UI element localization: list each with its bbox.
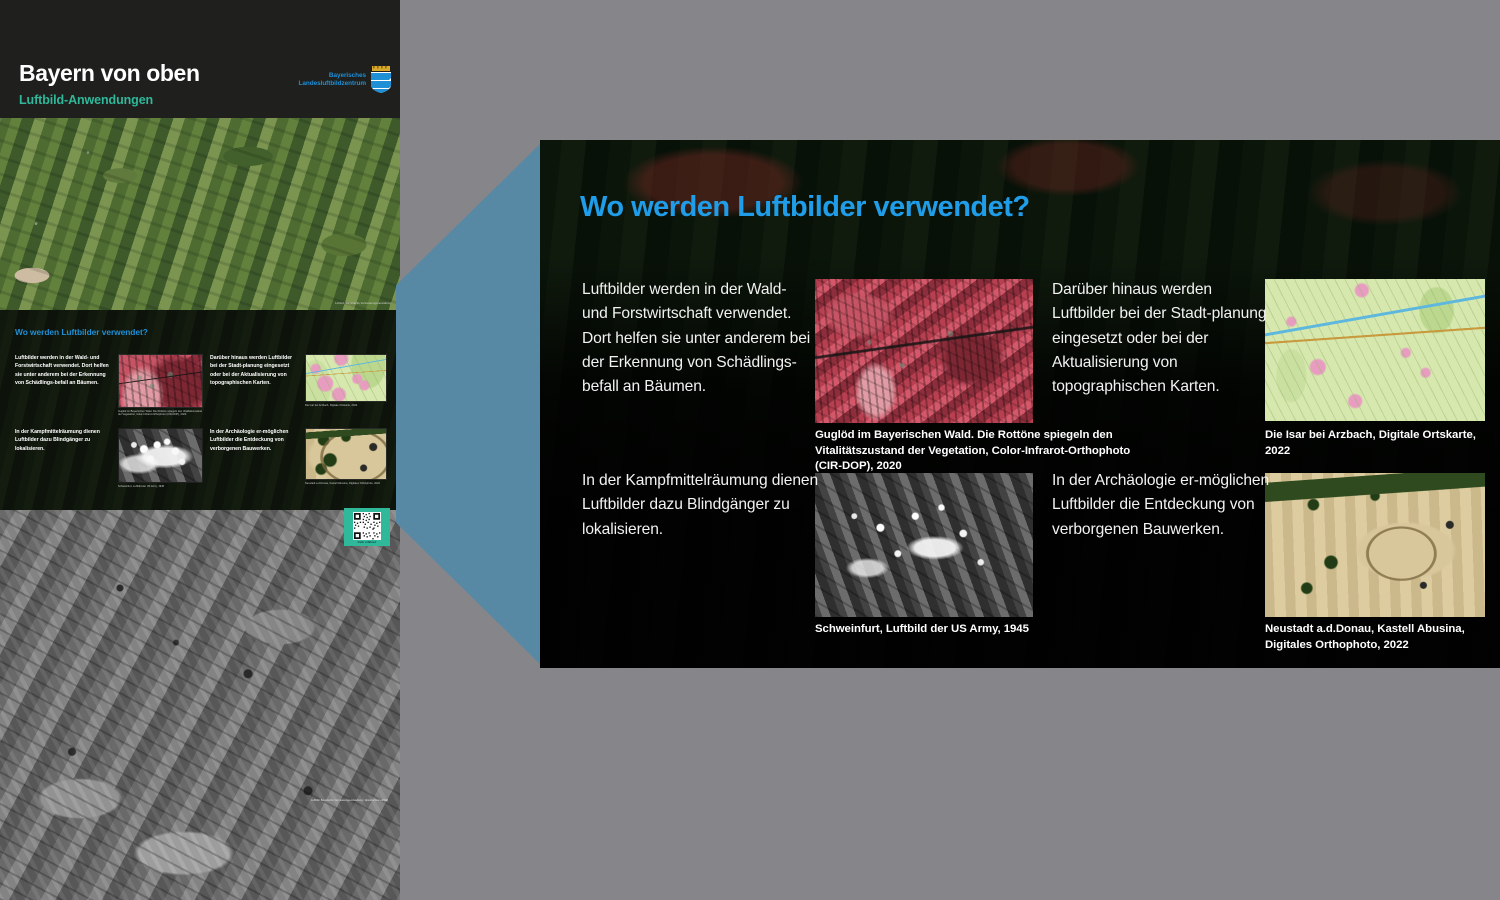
poster-quadrant-urban-media: Die Isar bei Arzbach, Digitale Ortskarte… — [305, 354, 387, 407]
qr-code-icon — [353, 512, 381, 540]
poster-top-aerial-photo: Luftbild: Bayerische Vermessungsverwaltu… — [0, 118, 400, 310]
poster-quadrant-caption: Neustadt a.d.Donau, Kastell Abusina, Dig… — [305, 482, 387, 485]
detail-panel: Wo werden Luftbilder verwendet? Luftbild… — [540, 140, 1500, 668]
screenshot-stage: Bayern von oben Luftbild-Anwendungen Bay… — [0, 0, 1500, 900]
poster-quadrant-text: In der Kampfmittelräumung dienen Luftbil… — [15, 428, 110, 453]
poster-top-photo-credit: Luftbild: Bayerische Vermessungsverwaltu… — [335, 302, 391, 305]
panel-caption-archaeology: Neustadt a.d.Donau, Kastell Abusina, Dig… — [1265, 622, 1497, 653]
poster-quadrant-urban: Darüber hinaus werden Luftbilder bei der… — [210, 354, 300, 388]
poster-quadrant-forestry: Luftbilder werden in der Wald- und Forst… — [15, 354, 110, 388]
cir-infrared-forest-photo — [815, 279, 1033, 423]
logo-line-2: Landesluftbildzentrum — [299, 80, 366, 88]
poster-subtitle: Luftbild-Anwendungen — [19, 93, 153, 107]
poster-quadrant-ordnance-media: Schweinfurt, Luftbild der US Army, 1945 — [118, 428, 203, 488]
poster-content-band: Wo werden Luftbilder verwendet? Luftbild… — [0, 310, 400, 510]
poster-quadrant-caption: Die Isar bei Arzbach, Digitale Ortskarte… — [305, 404, 387, 407]
panel-text-archaeology: In der Archäologie er-möglichen Luftbild… — [1052, 469, 1274, 542]
poster-quadrant-archaeology-media: Neustadt a.d.Donau, Kastell Abusina, Dig… — [305, 428, 387, 485]
panel-caption-urban: Die Isar bei Arzbach, Digitale Ortskarte… — [1265, 428, 1495, 459]
poster-title: Bayern von oben — [19, 60, 200, 87]
poster-quadrant-text: Darüber hinaus werden Luftbilder bei der… — [210, 354, 300, 388]
poster-image-historic-bw — [118, 428, 203, 483]
poster-image-topographic-map — [305, 354, 387, 402]
poster-image-archaeology — [305, 428, 387, 480]
qr-code-block[interactable]: mehr erfahren — [344, 508, 390, 546]
zoom-connector-wedge — [396, 140, 544, 668]
poster-quadrant-caption: Schweinfurt, Luftbild der US Army, 1945 — [118, 485, 203, 488]
poster-bottom-photo-credit: Luftbild: Bayerische Vermessungsverwaltu… — [311, 799, 388, 802]
poster-section-title: Wo werden Luftbilder verwendet? — [15, 327, 148, 337]
poster-quadrant-forestry-media: Guglöd im Bayerischen Wald. Die Rottöne … — [118, 354, 203, 416]
panel-text-forestry: Luftbilder werden in der Wald- und Forst… — [582, 278, 814, 400]
poster-header: Bayern von oben Luftbild-Anwendungen Bay… — [0, 0, 400, 118]
panel-caption-ordnance: Schweinfurt, Luftbild der US Army, 1945 — [815, 622, 1135, 638]
bavaria-coat-of-arms-icon — [370, 66, 392, 93]
poster-image-cir-infrared — [118, 354, 203, 408]
logo-line-1: Bayerisches — [299, 72, 366, 80]
poster-quadrant-text: In der Archäologie er-möglichen Luftbild… — [210, 428, 300, 453]
historic-bw-aerial-photo — [815, 473, 1033, 617]
poster-logo: Bayerisches Landesluftbildzentrum — [299, 66, 392, 93]
logo-text: Bayerisches Landesluftbildzentrum — [299, 72, 366, 88]
poster-quadrant-archaeology: In der Archäologie er-möglichen Luftbild… — [210, 428, 300, 453]
panel-text-urban: Darüber hinaus werden Luftbilder bei der… — [1052, 278, 1267, 400]
topographic-map-photo — [1265, 279, 1485, 421]
poster-quadrant-caption: Guglöd im Bayerischen Wald. Die Rottöne … — [118, 410, 203, 417]
poster-quadrant-ordnance: In der Kampfmittelräumung dienen Luftbil… — [15, 428, 110, 453]
poster-quadrant-text: Luftbilder werden in der Wald- und Forst… — [15, 354, 110, 388]
qr-code-label: mehr erfahren — [348, 541, 386, 544]
poster-panel: Bayern von oben Luftbild-Anwendungen Bay… — [0, 0, 400, 900]
panel-title: Wo werden Luftbilder verwendet? — [580, 191, 1030, 224]
poster-bottom-aerial-photo — [0, 510, 400, 900]
panel-text-ordnance: In der Kampfmittelräumung dienen Luftbil… — [582, 469, 827, 542]
archaeology-orthophoto-photo — [1265, 473, 1485, 617]
